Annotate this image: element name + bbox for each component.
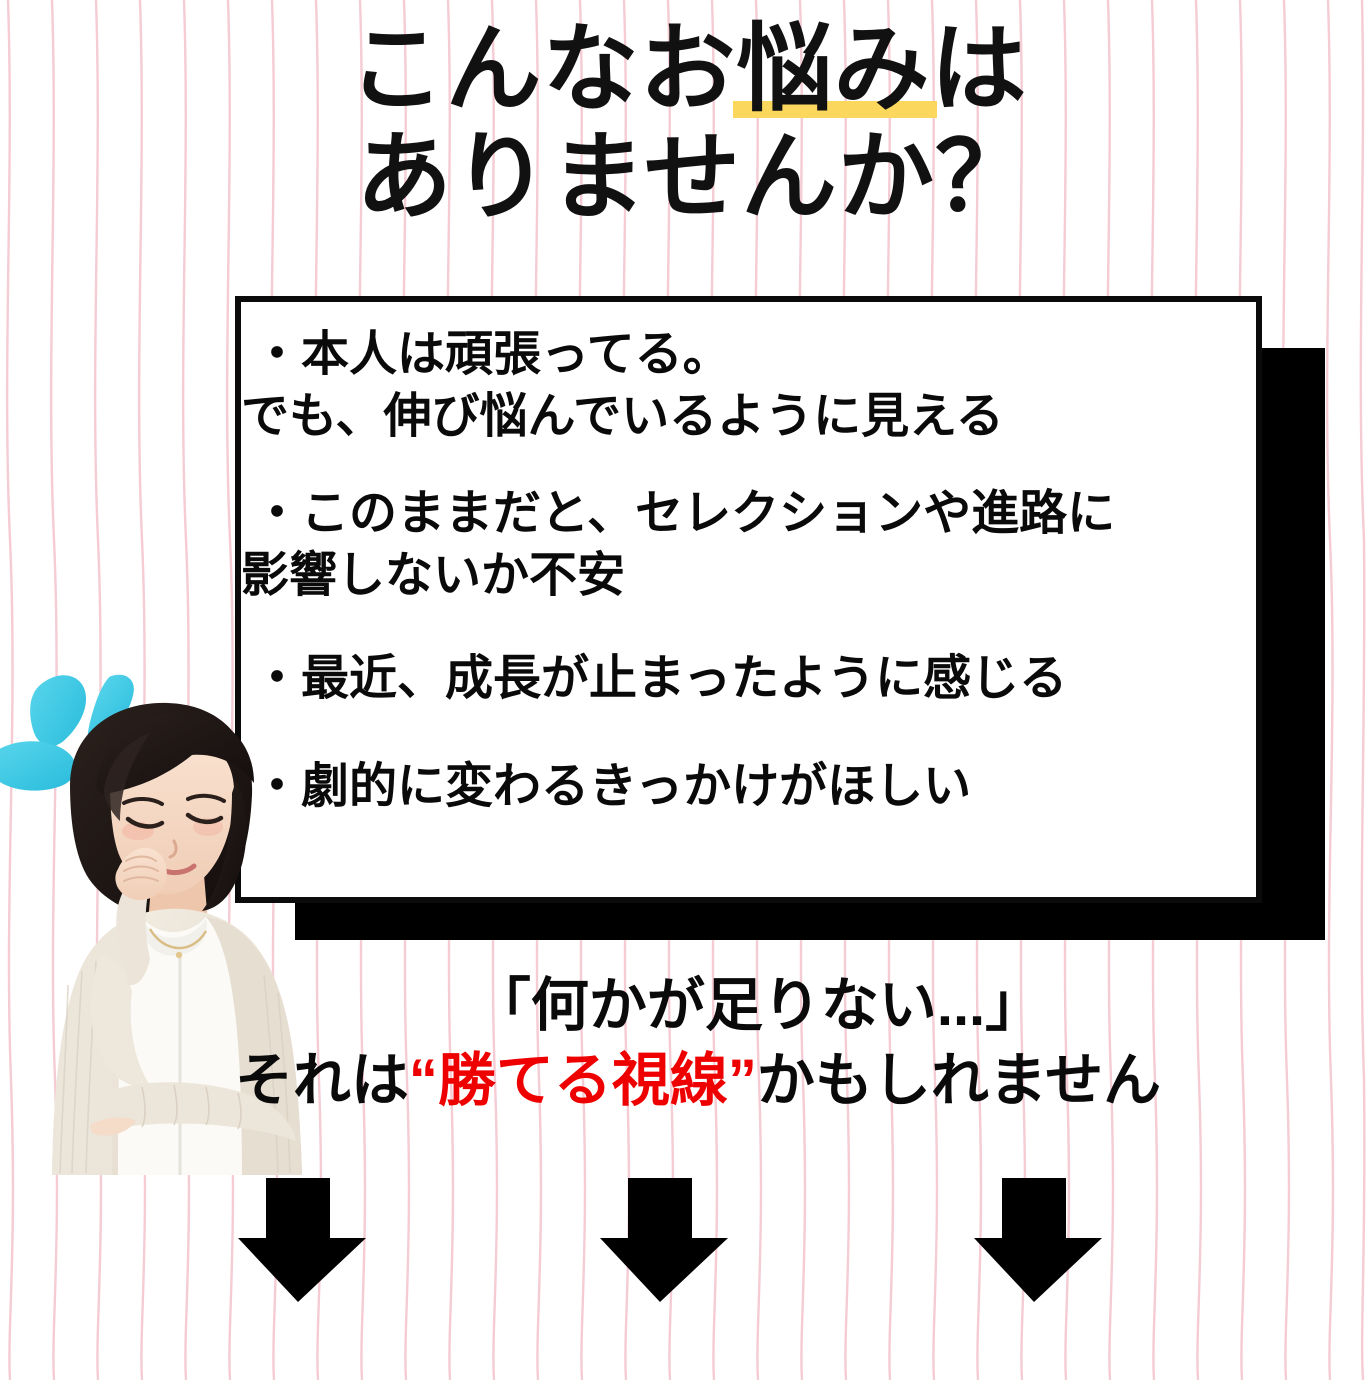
bullet-1-line-2: でも、伸び悩んでいるように見える [241, 386, 1256, 448]
list-item: ・最近、成長が止まったように感じる [241, 648, 1256, 710]
list-item: ・本人は頑張ってる。 でも、伸び悩んでいるように見える [241, 324, 1256, 449]
down-arrow-icon [974, 1178, 1102, 1302]
worried-woman-figure [0, 655, 352, 1175]
bullet-2-line-1: ・このままだと、セレクションや進路に [241, 483, 1256, 545]
list-item: ・劇的に変わるきっかけがほしい [241, 756, 1256, 818]
down-arrow-icon [238, 1178, 366, 1302]
list-item: ・このままだと、セレクションや進路に 影響しないか不安 [241, 483, 1256, 608]
poster-canvas: こんなお悩みは ありませんか？ ・本人は頑張ってる。 でも、伸び悩んでいるように… [0, 0, 1366, 1380]
down-arrow-group [0, 1178, 1366, 1308]
bullet-1-line-1: ・本人は頑張ってる。 [241, 324, 1256, 386]
concerns-panel: ・本人は頑張ってる。 でも、伸び悩んでいるように見える ・このままだと、セレクシ… [235, 296, 1262, 903]
down-arrow-icon [600, 1178, 728, 1302]
bullet-2-line-2: 影響しないか不安 [241, 545, 1256, 607]
